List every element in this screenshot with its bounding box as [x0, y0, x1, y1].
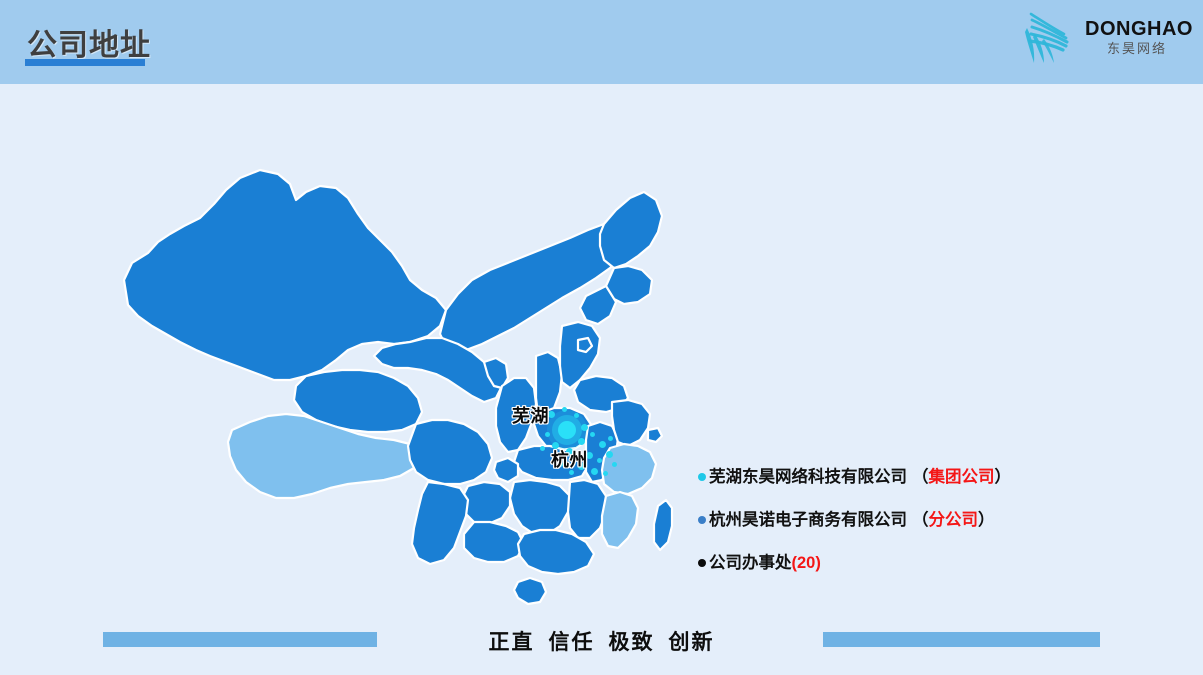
slogan-word-4: 创新	[669, 631, 715, 654]
legend-emphasis-branch-company: 分公司	[929, 511, 979, 529]
legend-dot-black	[698, 559, 706, 567]
office-marker	[548, 411, 555, 418]
slogan-word-3: 极致	[609, 631, 655, 654]
province-guizhou	[462, 482, 510, 524]
office-marker	[590, 432, 595, 437]
office-marker	[574, 413, 579, 418]
map-legend: 芜湖东昊网络科技有限公司 （ 集团公司 ） 杭州昊诺电子商务有限公司 （ 分公司…	[698, 462, 1098, 578]
province-jiangxi	[568, 480, 606, 538]
donghao-wing-mark-icon	[1019, 8, 1081, 68]
legend-close-paren: ）	[978, 511, 995, 529]
footer-slogan: 正直信任极致创新	[0, 626, 1203, 656]
office-marker	[597, 458, 602, 463]
office-marker	[603, 471, 608, 476]
hq-glow-marker[interactable]	[558, 421, 576, 439]
office-marker	[591, 468, 598, 475]
province-hainan	[514, 578, 546, 604]
legend-item-group-company: 芜湖东昊网络科技有限公司 （ 集团公司 ）	[698, 462, 1098, 492]
province-taiwan	[654, 500, 672, 550]
legend-dot-blue	[698, 516, 706, 524]
office-marker	[608, 436, 613, 441]
legend-label-offices: 公司办事处	[709, 554, 792, 572]
city-label-hangzhou: 杭州	[551, 446, 588, 472]
slogan-word-2: 信任	[549, 631, 595, 654]
legend-item-offices: 公司办事处 (20)	[698, 548, 1098, 578]
province-jiangsu	[612, 400, 650, 446]
legend-open-paren: （	[912, 511, 929, 529]
province-hunan	[510, 480, 570, 534]
legend-emphasis-group-company: 集团公司	[929, 468, 995, 486]
legend-open-paren: （	[912, 468, 929, 486]
office-marker	[606, 451, 613, 458]
legend-label-branch-company: 杭州昊诺电子商务有限公司	[709, 511, 907, 529]
province-guangxi	[464, 522, 524, 562]
office-marker	[599, 441, 606, 448]
office-marker	[562, 407, 567, 412]
province-fujian	[602, 492, 638, 548]
logo-wordmark: DONGHAO 东昊网络	[1085, 18, 1189, 58]
city-label-wuhu: 芜湖	[512, 402, 549, 428]
legend-dot-cyan	[698, 473, 706, 481]
province-yunnan	[412, 482, 468, 564]
logo-name-en: DONGHAO	[1085, 18, 1189, 40]
province-liaoning	[580, 286, 616, 324]
slide-canvas: 公司地址 DONGHAO 东昊网络	[0, 0, 1203, 675]
title-underline-bar	[25, 59, 145, 66]
china-map	[110, 130, 690, 610]
province-chongqing	[494, 458, 518, 482]
page-title: 公司地址	[27, 20, 151, 64]
company-logo: DONGHAO 东昊网络	[1019, 8, 1189, 70]
office-marker	[612, 462, 617, 467]
office-marker	[540, 446, 545, 451]
slogan-word-1: 正直	[489, 631, 535, 654]
legend-office-count: (20)	[792, 554, 821, 572]
office-marker	[581, 424, 588, 431]
office-marker	[545, 432, 550, 437]
logo-name-cn: 东昊网络	[1085, 40, 1189, 58]
legend-label-group-company: 芜湖东昊网络科技有限公司	[709, 468, 907, 486]
province-sichuan	[408, 420, 492, 484]
legend-item-branch-company: 杭州昊诺电子商务有限公司 （ 分公司 ）	[698, 505, 1098, 535]
province-heilongjiang	[600, 192, 662, 268]
legend-close-paren: ）	[995, 468, 1012, 486]
province-shanghai	[648, 428, 662, 442]
office-marker	[578, 438, 585, 445]
